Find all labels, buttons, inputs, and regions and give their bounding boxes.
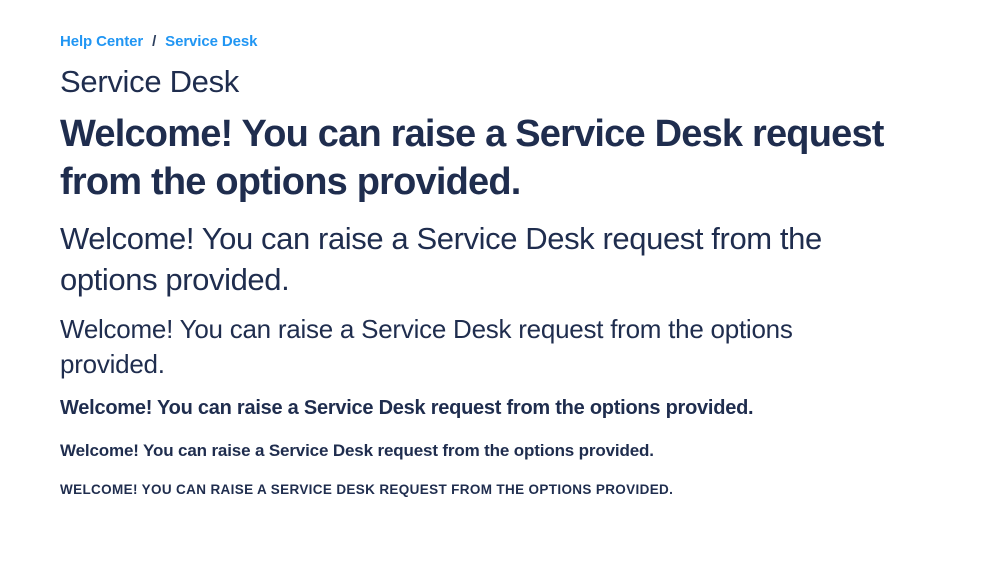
heading-specimen-h2: Welcome! You can raise a Service Desk re… [60, 218, 926, 300]
heading-specimen-h6: Welcome! You can raise a Service Desk re… [60, 480, 950, 499]
page-title: Service Desk [60, 63, 950, 101]
breadcrumb-item-service-desk[interactable]: Service Desk [165, 32, 257, 52]
breadcrumb-item-help-center[interactable]: Help Center [60, 32, 143, 52]
breadcrumb: Help Center / Service Desk [60, 32, 950, 52]
breadcrumb-separator-icon: / [143, 32, 165, 52]
heading-specimen-h3: Welcome! You can raise a Service Desk re… [60, 312, 892, 382]
heading-specimen-h1: Welcome! You can raise a Service Desk re… [60, 110, 950, 206]
help-center-page: Help Center / Service Desk Service Desk … [0, 0, 998, 562]
heading-specimen-h5: Welcome! You can raise a Service Desk re… [60, 439, 950, 462]
heading-specimen-h4: Welcome! You can raise a Service Desk re… [60, 395, 950, 422]
